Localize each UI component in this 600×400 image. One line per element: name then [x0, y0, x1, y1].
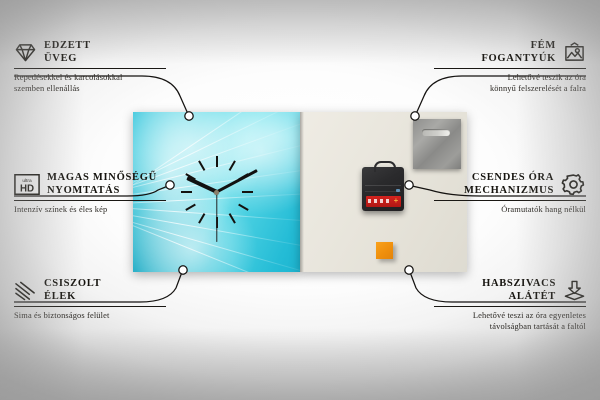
feature-subtitle-line2: távolságban tartását a faltól — [434, 321, 586, 332]
feature-subtitle-line2: szemben ellenállás — [14, 83, 166, 94]
feature-subtitle-line1: Repedésekkel és karcolásokkal — [14, 72, 166, 83]
feature-title-line2: MECHANIZMUS — [464, 185, 554, 198]
feature-magas-minosegu-nyomtatas: ultra HD MAGAS MINŐSÉGŰ NYOMTATÁS Intenz… — [14, 172, 166, 215]
feature-title-line2: ÜVEG — [44, 53, 91, 66]
feature-title-line2: FOGANTYÚK — [481, 53, 556, 66]
mechanism-indicator — [396, 189, 400, 192]
feature-subtitle-line1: Sima és biztonságos felület — [14, 310, 166, 321]
product-images: + — [133, 112, 467, 272]
foam-pad-icon — [563, 280, 586, 301]
mechanism-loop — [374, 161, 396, 172]
hanger-slot — [422, 129, 450, 136]
feature-csiszolt-elek: CSISZOLT ÉLEK Sima és biztonságos felüle… — [14, 278, 166, 321]
feature-subtitle-line1: Lehetővé teszi az óra egyenletes — [434, 310, 586, 321]
feature-title-line2: ALÁTÉT — [482, 291, 556, 304]
clock-second-hand — [216, 192, 217, 242]
feature-subtitle-line1: Óramutatók hang nélkül — [434, 204, 586, 215]
feature-subtitle-line1: Lehetővé teszik az óra — [434, 72, 586, 83]
clock-mechanism-part: + — [362, 167, 404, 211]
feature-title-line1: CSENDES ÓRA — [464, 172, 554, 185]
metal-hanger-part — [413, 119, 461, 169]
feature-fem-foganytyuk: FÉM FOGANTYÚK Lehetővé teszik az óra kön… — [434, 40, 586, 94]
feature-subtitle-line2: könnyű felszerelését a falra — [434, 83, 586, 94]
feature-rule — [434, 200, 586, 201]
feature-edzett-uveg: EDZETT ÜVEG Repedésekkel és karcolásokka… — [14, 40, 166, 94]
polished-edges-icon — [14, 280, 37, 301]
diamond-icon — [14, 42, 37, 63]
feature-csendes-ora-mechanizmus: CSENDES ÓRA MECHANIZMUS Óramutatók hang … — [434, 172, 586, 215]
battery: + — [366, 196, 401, 207]
feature-title-line1: MAGAS MINŐSÉGŰ — [47, 172, 157, 185]
feature-rule — [14, 200, 166, 201]
infographic-canvas: + — [0, 0, 600, 400]
feature-rule — [14, 306, 166, 307]
picture-hanger-icon — [563, 42, 586, 63]
foam-pad-part — [376, 242, 393, 259]
svg-text:HD: HD — [20, 183, 34, 194]
feature-subtitle-line1: Intenzív színek és éles kép — [14, 204, 166, 215]
feature-title-line1: HABSZIVACS — [482, 278, 556, 291]
feature-title-line1: EDZETT — [44, 40, 91, 53]
feature-rule — [434, 68, 586, 69]
feature-rule — [434, 306, 586, 307]
feature-title-line2: NYOMTATÁS — [47, 185, 157, 198]
gear-icon — [561, 173, 586, 196]
ultra-hd-icon: ultra HD — [14, 173, 40, 196]
feature-title-line1: FÉM — [481, 40, 556, 53]
feature-rule — [14, 68, 166, 69]
feature-title-line1: CSISZOLT — [44, 278, 101, 291]
feature-habszivacs-alatet: HABSZIVACS ALÁTÉT Lehetővé teszi az óra … — [434, 278, 586, 332]
clock-center-pin — [214, 190, 219, 195]
feature-title-line2: ÉLEK — [44, 291, 101, 304]
